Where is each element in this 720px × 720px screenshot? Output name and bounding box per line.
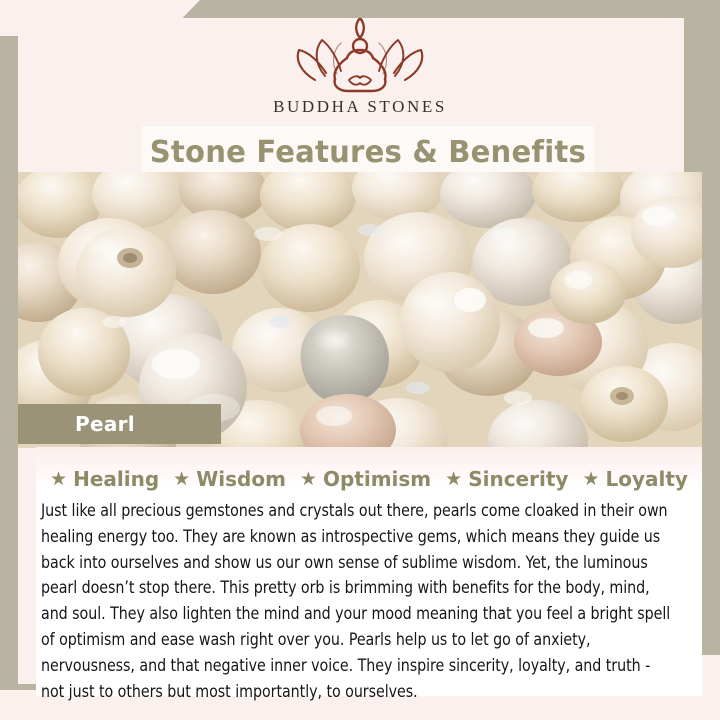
stone-name-tab: Pearl: [18, 404, 221, 444]
content-panel: ★ Healing ★ Wisdom ★ Optimism ★ Sincerit…: [36, 447, 702, 696]
stone-name-label: Pearl: [75, 412, 135, 436]
keyword-loyalty: ★ Loyalty: [582, 467, 688, 491]
star-icon: ★: [173, 470, 190, 489]
star-icon: ★: [582, 470, 599, 489]
title-band: Stone Features & Benefits: [142, 126, 594, 178]
keyword-label: Wisdom: [196, 467, 286, 491]
keyword-healing: ★ Healing: [50, 467, 159, 491]
poster-root: BUDDHA STONES Stone Features & Benefits: [0, 0, 720, 720]
keyword-optimism: ★ Optimism: [300, 467, 431, 491]
keyword-label: Sincerity: [468, 467, 568, 491]
page-title: Stone Features & Benefits: [150, 135, 586, 170]
keyword-sincerity: ★ Sincerity: [445, 467, 568, 491]
star-icon: ★: [445, 470, 462, 489]
lotus-meditation-figure-icon: [0, 18, 720, 96]
keyword-wisdom: ★ Wisdom: [173, 467, 286, 491]
star-icon: ★: [50, 470, 67, 489]
brand-header: BUDDHA STONES: [0, 18, 720, 117]
keyword-label: Healing: [73, 467, 159, 491]
keyword-list: ★ Healing ★ Wisdom ★ Optimism ★ Sincerit…: [36, 467, 702, 491]
keyword-label: Optimism: [323, 467, 431, 491]
star-icon: ★: [300, 470, 317, 489]
description-paragraph: Just like all precious gemstones and cry…: [41, 498, 671, 704]
brand-name: BUDDHA STONES: [0, 97, 720, 117]
keyword-label: Loyalty: [605, 467, 687, 491]
